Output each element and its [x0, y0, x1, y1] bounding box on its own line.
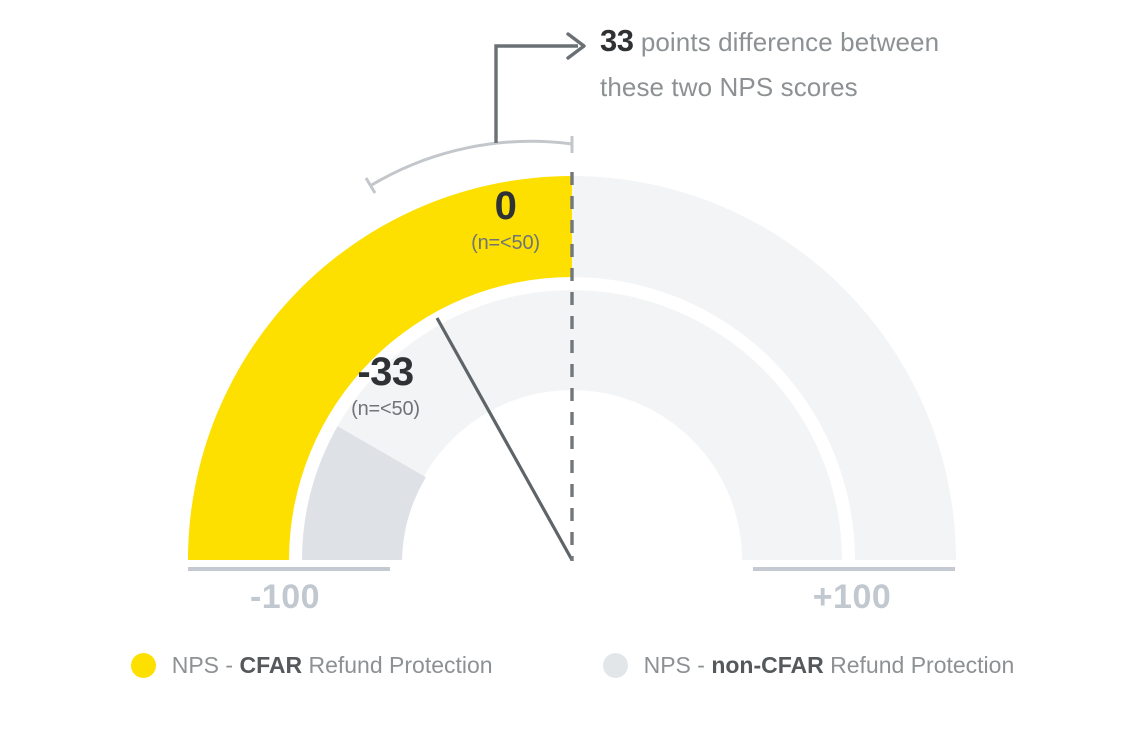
legend-cfar-prefix: NPS - [172, 652, 240, 678]
legend-label-cfar: NPS - CFAR Refund Protection [172, 652, 493, 679]
difference-callout: 33 points difference between these two N… [600, 16, 1020, 108]
inner-arc-sample-size: (n=<50) [318, 399, 453, 419]
axis-label-max: +100 [747, 578, 957, 617]
inner-arc-label: -33 (n=<50) [318, 352, 453, 419]
outer-arc-value: 0 [438, 186, 573, 226]
nps-gauge-chart: 33 points difference between these two N… [0, 0, 1145, 738]
legend-cfar-suffix: Refund Protection [302, 652, 493, 678]
axis-label-min: -100 [180, 578, 390, 617]
gauge-graphic [0, 0, 1145, 738]
callout-line-1-text: points difference between [641, 27, 939, 57]
callout-value: 33 [600, 23, 633, 58]
legend-cfar-strong: CFAR [239, 652, 302, 678]
outer-arc-label: 0 (n=<50) [438, 186, 573, 253]
outer-arc-sample-size: (n=<50) [438, 233, 573, 253]
legend-swatch-icon-cfar [131, 653, 156, 678]
inner-arc-value: -33 [318, 352, 453, 392]
legend-item-cfar[interactable]: NPS - CFAR Refund Protection [131, 652, 493, 679]
legend-non-cfar-prefix: NPS - [644, 652, 712, 678]
legend-label-non-cfar: NPS - non-CFAR Refund Protection [644, 652, 1015, 679]
legend-swatch-icon-non-cfar [603, 653, 628, 678]
legend-non-cfar-suffix: Refund Protection [824, 652, 1015, 678]
callout-line-1: 33 points difference between [600, 16, 1020, 66]
legend-non-cfar-strong: non-CFAR [711, 652, 823, 678]
legend-item-non-cfar[interactable]: NPS - non-CFAR Refund Protection [603, 652, 1015, 679]
callout-leader-line [496, 46, 578, 143]
chart-legend: NPS - CFAR Refund Protection NPS - non-C… [0, 652, 1145, 679]
callout-line-2: these two NPS scores [600, 66, 1020, 108]
